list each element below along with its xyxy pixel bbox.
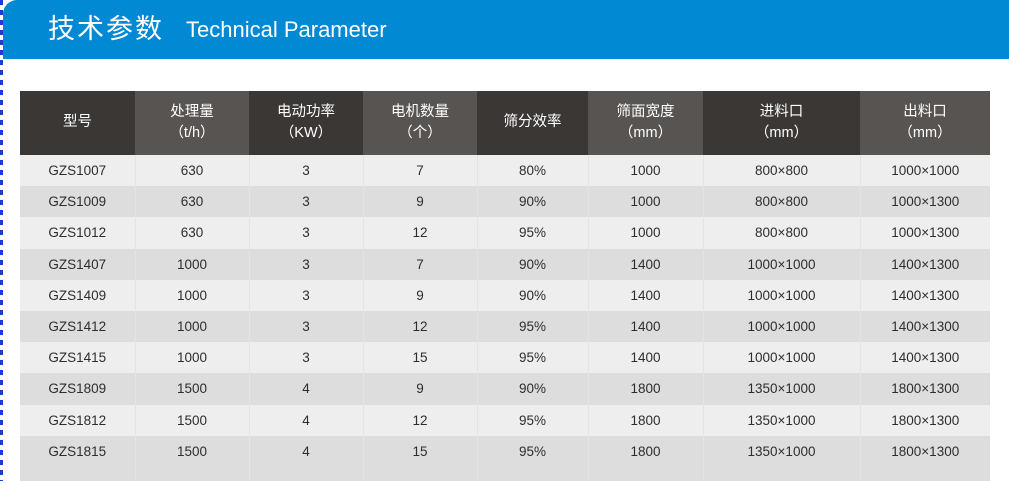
cell-screening-efficiency: 90% [477,373,588,404]
cell-power: 3 [249,280,363,311]
cell-screen-width: 1400 [588,280,703,311]
cell-model: GZS1415 [20,342,135,373]
cell-screening-efficiency: 95% [477,436,588,467]
table-row: GZS10096303990%1000800×8001000×1300 [20,186,990,217]
cell-model: GZS1007 [20,155,135,186]
column-header-motor-count-label: 电机数量 [391,104,449,120]
cell-model: GZS1409 [20,280,135,311]
cell-motor-count: 7 [363,249,477,280]
cell-model: GZS1412 [20,311,135,342]
cell-motor-count: 9 [363,373,477,404]
cell-inlet: 1000×1000 [703,342,860,373]
column-header-power: 电动功率 （KW） [249,91,363,155]
cell-outlet: 1000×1300 [860,217,990,248]
cell-inlet: 1000×1000 [703,249,860,280]
cell-outlet: 1000×1300 [860,186,990,217]
column-header-motor-count-unit: （个） [363,123,477,144]
cell-model: GZS1815 [20,436,135,467]
cell-power: 4 [249,373,363,404]
table-row: GZS1815150041595%18001350×10001800×1300 [20,436,990,467]
cell-inlet: 1350×1000 [703,373,860,404]
cell-power: 3 [249,342,363,373]
cell-capacity: 1500 [135,373,249,404]
cell-inlet: 1350×1000 [703,436,860,467]
cell-capacity: 630 [135,155,249,186]
cell-screen-width: 1800 [588,436,703,467]
column-header-model-label: 型号 [63,114,92,130]
column-header-outlet-label: 出料口 [903,104,947,120]
cell-screening-efficiency: 80% [477,155,588,186]
cell-capacity: 1500 [135,436,249,467]
cell-screening-efficiency: 90% [477,186,588,217]
column-header-capacity-unit: （t/h） [135,123,249,144]
column-header-screening-efficiency: 筛分效率 [477,91,588,155]
cell-inlet: 1000×1000 [703,280,860,311]
table-bottom-filler [20,466,990,481]
cell-screening-efficiency: 90% [477,280,588,311]
table-body: GZS10076303780%1000800×8001000×1000GZS10… [20,155,990,467]
cell-screening-efficiency: 95% [477,217,588,248]
cell-inlet: 800×800 [703,155,860,186]
cell-outlet: 1800×1300 [860,373,990,404]
column-header-inlet: 进料口 （mm） [703,91,860,155]
cell-power: 4 [249,436,363,467]
cell-screening-efficiency: 95% [477,342,588,373]
cell-power: 3 [249,155,363,186]
cell-motor-count: 9 [363,186,477,217]
column-header-outlet-unit: （mm） [860,123,990,144]
cell-outlet: 1800×1300 [860,405,990,436]
column-header-screening-efficiency-label: 筛分效率 [504,114,562,130]
cell-inlet: 800×800 [703,217,860,248]
cell-screen-width: 1000 [588,217,703,248]
section-banner: 技术参数 Technical Parameter [3,0,1009,59]
cell-power: 3 [249,186,363,217]
cell-model: GZS1012 [20,217,135,248]
cell-power: 3 [249,311,363,342]
cell-screen-width: 1800 [588,373,703,404]
technical-parameter-table: 型号 处理量 （t/h） 电动功率 （KW） 电机数量 （个） 筛分效率 [20,91,990,467]
column-header-inlet-unit: （mm） [703,123,860,144]
cell-power: 3 [249,217,363,248]
banner-title-chinese: 技术参数 [48,16,164,43]
cell-motor-count: 12 [363,217,477,248]
table-row: GZS101263031295%1000800×8001000×1300 [20,217,990,248]
column-header-outlet: 出料口 （mm） [860,91,990,155]
table-row: GZS10076303780%1000800×8001000×1000 [20,155,990,186]
cell-screen-width: 1800 [588,405,703,436]
cell-screen-width: 1000 [588,186,703,217]
cell-screening-efficiency: 95% [477,311,588,342]
column-header-inlet-label: 进料口 [760,104,804,120]
table-row: GZS1415100031595%14001000×10001400×1300 [20,342,990,373]
table-row: GZS140710003790%14001000×10001400×1300 [20,249,990,280]
cell-power: 3 [249,249,363,280]
technical-parameter-table-wrapper: 型号 处理量 （t/h） 电动功率 （KW） 电机数量 （个） 筛分效率 [20,91,990,467]
cell-screen-width: 1000 [588,155,703,186]
cell-outlet: 1400×1300 [860,249,990,280]
cell-model: GZS1809 [20,373,135,404]
column-header-power-label: 电动功率 [277,104,335,120]
table-row: GZS180915004990%18001350×10001800×1300 [20,373,990,404]
column-header-screen-width-unit: （mm） [588,123,703,144]
table-header-row: 型号 处理量 （t/h） 电动功率 （KW） 电机数量 （个） 筛分效率 [20,91,990,155]
column-header-capacity-label: 处理量 [170,104,214,120]
cell-capacity: 1000 [135,249,249,280]
table-row: GZS140910003990%14001000×10001400×1300 [20,280,990,311]
cell-screen-width: 1400 [588,249,703,280]
cell-outlet: 1400×1300 [860,311,990,342]
table-row: GZS1812150041295%18001350×10001800×1300 [20,405,990,436]
column-header-screen-width: 筛面宽度 （mm） [588,91,703,155]
cell-motor-count: 9 [363,280,477,311]
selection-edge-marker [0,0,3,481]
table-header: 型号 处理量 （t/h） 电动功率 （KW） 电机数量 （个） 筛分效率 [20,91,990,155]
cell-motor-count: 7 [363,155,477,186]
column-header-capacity: 处理量 （t/h） [135,91,249,155]
cell-motor-count: 12 [363,405,477,436]
cell-model: GZS1407 [20,249,135,280]
column-header-model: 型号 [20,91,135,155]
cell-capacity: 630 [135,217,249,248]
cell-outlet: 1400×1300 [860,342,990,373]
cell-capacity: 1000 [135,342,249,373]
column-header-power-unit: （KW） [249,123,363,144]
cell-screen-width: 1400 [588,311,703,342]
cell-model: GZS1812 [20,405,135,436]
cell-screening-efficiency: 90% [477,249,588,280]
column-header-screen-width-label: 筛面宽度 [617,104,675,120]
cell-capacity: 630 [135,186,249,217]
cell-outlet: 1400×1300 [860,280,990,311]
cell-screening-efficiency: 95% [477,405,588,436]
cell-model: GZS1009 [20,186,135,217]
cell-motor-count: 15 [363,436,477,467]
cell-capacity: 1000 [135,280,249,311]
cell-outlet: 1000×1000 [860,155,990,186]
cell-capacity: 1500 [135,405,249,436]
cell-outlet: 1800×1300 [860,436,990,467]
table-row: GZS1412100031295%14001000×10001400×1300 [20,311,990,342]
banner-title-english: Technical Parameter [186,19,387,41]
cell-inlet: 800×800 [703,186,860,217]
cell-inlet: 1000×1000 [703,311,860,342]
cell-capacity: 1000 [135,311,249,342]
cell-power: 4 [249,405,363,436]
cell-motor-count: 15 [363,342,477,373]
cell-motor-count: 12 [363,311,477,342]
cell-screen-width: 1400 [588,342,703,373]
cell-inlet: 1350×1000 [703,405,860,436]
column-header-motor-count: 电机数量 （个） [363,91,477,155]
